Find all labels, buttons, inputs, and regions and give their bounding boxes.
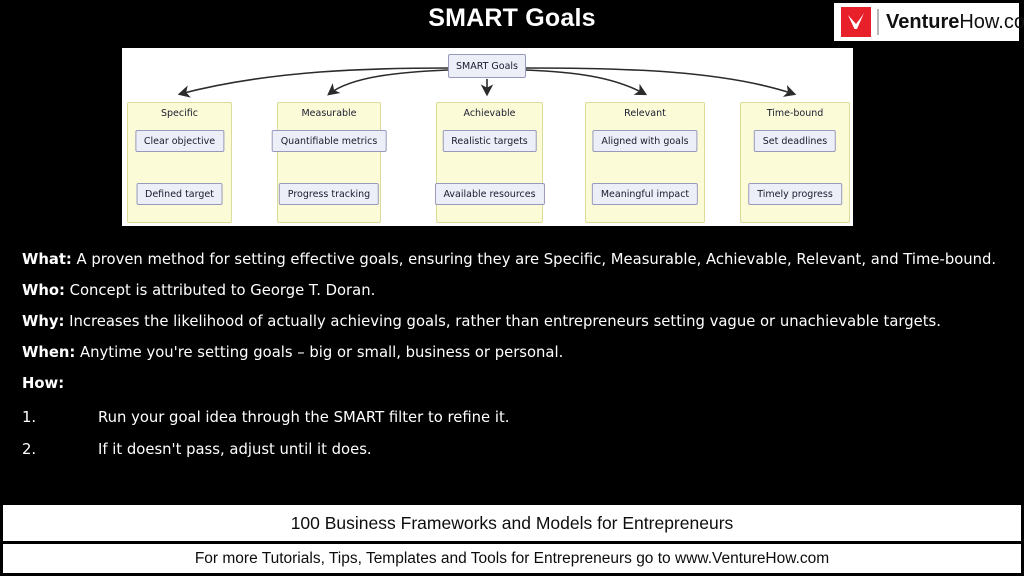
column-item[interactable]: Meaningful impact <box>592 183 698 205</box>
body-content: What: A proven method for setting effect… <box>22 249 1004 472</box>
paragraph-how: How: <box>22 373 1004 394</box>
column-title: Specific <box>128 108 231 119</box>
diagram-column-time-bound[interactable]: Time-bound Set deadlines Timely progress <box>740 102 850 223</box>
footer-subtitle: For more Tutorials, Tips, Templates and … <box>195 550 829 568</box>
step-text: Run your goal idea through the SMART fil… <box>98 408 1004 428</box>
text-why: Increases the likelihood of actually ach… <box>64 313 941 330</box>
smart-goals-diagram: SMART Goals Specific Clear objective Def… <box>122 48 853 226</box>
column-item[interactable]: Aligned with goals <box>592 130 697 152</box>
diagram-column-specific[interactable]: Specific Clear objective Defined target <box>127 102 232 223</box>
slide-root: SMART Goals VentureHow.com <box>0 0 1024 576</box>
label-what: What: <box>22 251 72 268</box>
column-item[interactable]: Quantifiable metrics <box>272 130 387 152</box>
step-number: 1. <box>22 408 98 428</box>
step-text: If it doesn't pass, adjust until it does… <box>98 440 1004 460</box>
footer-secondary-bar: For more Tutorials, Tips, Templates and … <box>3 544 1021 573</box>
footer-title: 100 Business Frameworks and Models for E… <box>291 513 734 534</box>
logo-word-howcom: How.com <box>959 11 1024 33</box>
brand-logo[interactable]: VentureHow.com <box>834 3 1019 41</box>
column-title: Relevant <box>586 108 704 119</box>
logo-wordmark: VentureHow.com <box>886 12 1024 32</box>
diagram-root-node[interactable]: SMART Goals <box>448 54 526 78</box>
column-item[interactable]: Available resources <box>434 183 544 205</box>
red-check-logo-icon <box>841 7 871 37</box>
logo-divider <box>877 9 879 35</box>
column-item[interactable]: Timely progress <box>748 183 842 205</box>
column-title: Measurable <box>278 108 380 119</box>
paragraph-when: When: Anytime you're setting goals – big… <box>22 342 1004 363</box>
diagram-column-measurable[interactable]: Measurable Quantifiable metrics Progress… <box>277 102 381 223</box>
column-item[interactable]: Progress tracking <box>279 183 379 205</box>
label-when: When: <box>22 344 75 361</box>
label-who: Who: <box>22 282 65 299</box>
text-who: Concept is attributed to George T. Doran… <box>65 282 375 299</box>
list-item: 2. If it doesn't pass, adjust until it d… <box>22 440 1004 460</box>
paragraph-why: Why: Increases the likelihood of actuall… <box>22 311 1004 332</box>
list-item: 1. Run your goal idea through the SMART … <box>22 408 1004 428</box>
step-number: 2. <box>22 440 98 460</box>
text-what: A proven method for setting effective go… <box>72 251 996 268</box>
diagram-root-label: SMART Goals <box>456 61 518 72</box>
diagram-column-achievable[interactable]: Achievable Realistic targets Available r… <box>436 102 543 223</box>
label-how: How: <box>22 375 64 392</box>
text-when: Anytime you're setting goals – big or sm… <box>75 344 563 361</box>
paragraph-who: Who: Concept is attributed to George T. … <box>22 280 1004 301</box>
footer-primary-bar: 100 Business Frameworks and Models for E… <box>3 505 1021 541</box>
column-title: Time-bound <box>741 108 849 119</box>
logo-word-venture: Venture <box>886 11 959 33</box>
column-item[interactable]: Realistic targets <box>442 130 537 152</box>
paragraph-what: What: A proven method for setting effect… <box>22 249 1004 270</box>
column-item[interactable]: Defined target <box>136 183 223 205</box>
column-item[interactable]: Clear objective <box>135 130 224 152</box>
diagram-column-relevant[interactable]: Relevant Aligned with goals Meaningful i… <box>585 102 705 223</box>
column-item[interactable]: Set deadlines <box>754 130 836 152</box>
label-why: Why: <box>22 313 64 330</box>
column-title: Achievable <box>437 108 542 119</box>
